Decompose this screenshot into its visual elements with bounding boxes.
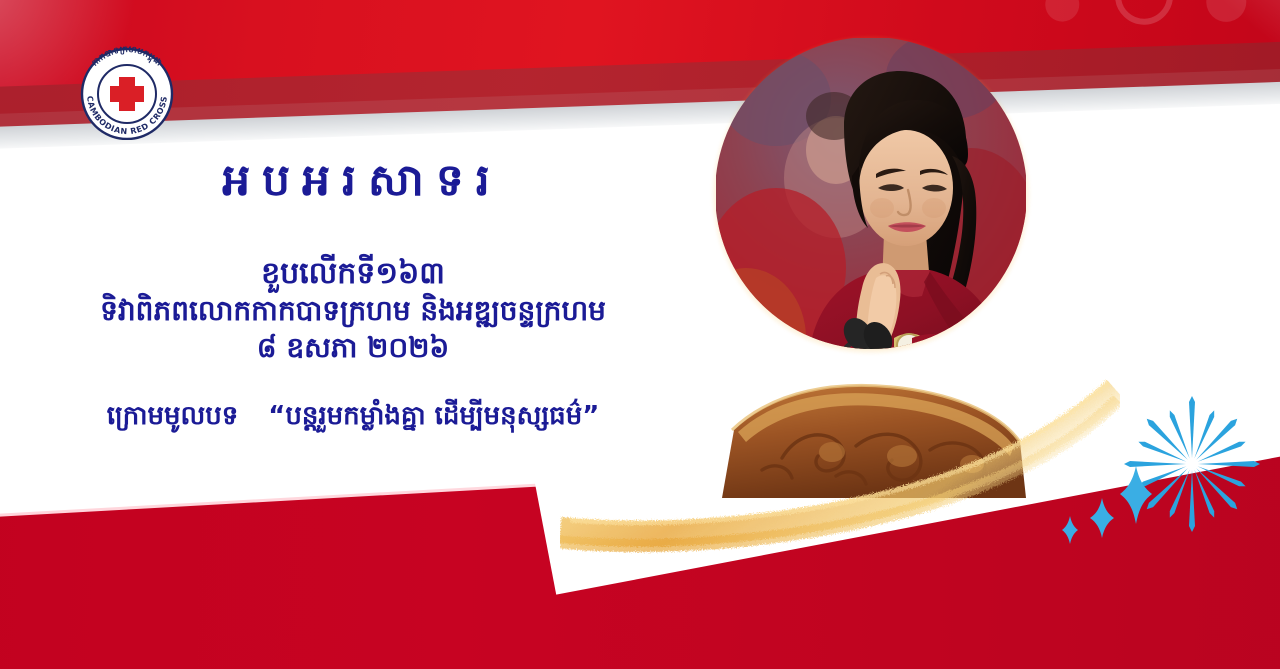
anniversary-line: ខួបលើកទី១៦៣ [0,254,706,294]
poster-canvas: កាកបាទក្រហមកម្ពុជា CAMBODIAN RED CROSS អ… [0,0,1280,669]
cambodian-red-cross-logo: កាកបាទក្រហមកម្ពុជា CAMBODIAN RED CROSS [73,42,181,140]
event-line: ទិវាពិភពលោកកាកបាទក្រហម និងអឌ្ឍចន្ទក្រហម [0,293,706,330]
sparkle-decorations [1040,378,1280,568]
sparkle-diamond-icon [1062,516,1078,544]
sparkle-diamond-icon [1120,466,1152,524]
sparkle-diamond-icon [1090,498,1114,538]
bokeh-circle [1114,0,1174,26]
bokeh-circle [1045,0,1080,22]
speaker-portrait [716,38,1026,498]
text-content: អបអរសាទរ ខួបលើកទី១៦៣ ទិវាពិភពលោកកាកបាទក្… [0,155,706,434]
bokeh-circle [1206,0,1247,23]
theme-line: ក្រោមមូលបទ “បន្តរួមកម្លាំងគ្នា ដើម្បីមនុ… [0,399,706,434]
theme-label: ក្រោមមូលបទ [107,399,239,434]
portrait-container [716,38,1026,508]
page-title: អបអរសាទរ [18,155,706,208]
theme-quote: “បន្តរួមកម្លាំងគ្នា ដើម្បីមនុស្សធម៌” [268,399,599,434]
date-line: ៨ ឧសភា ២០២៦ [0,330,706,367]
firework-burst-icon [1101,378,1280,555]
